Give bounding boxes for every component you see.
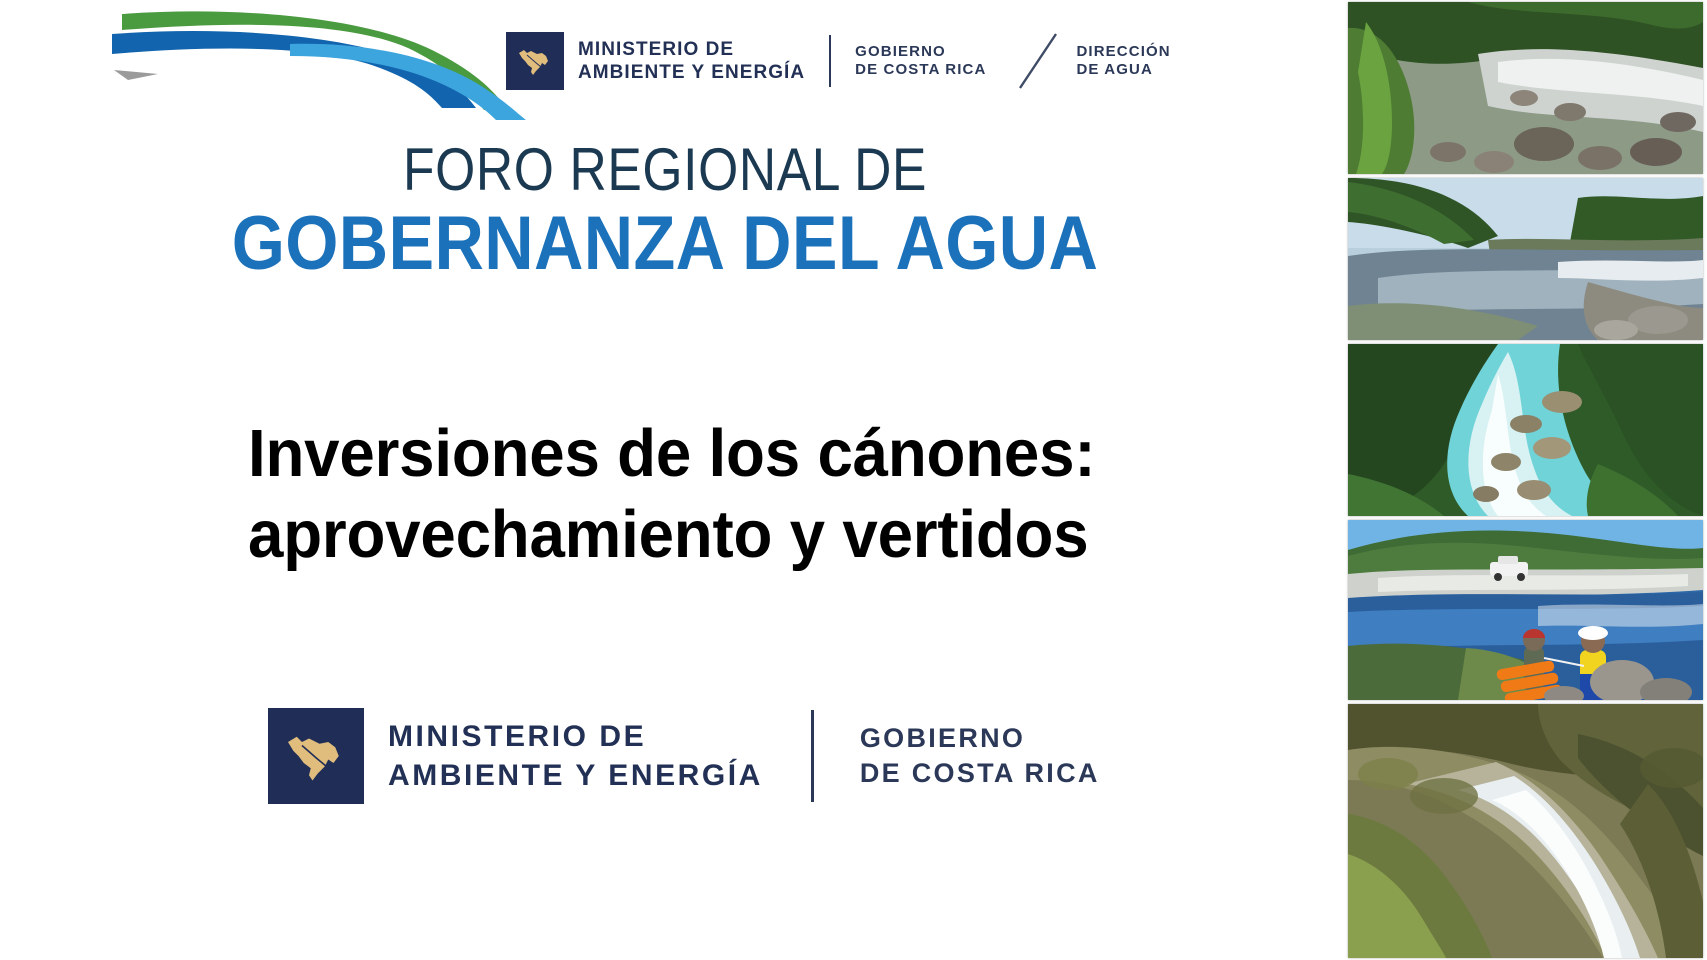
header-gobierno-line1: GOBIERNO: [855, 43, 986, 61]
header-slash-divider-icon: [1012, 30, 1064, 92]
header-logo-lockup: MINISTERIO DE AMBIENTE Y ENERGÍA GOBIERN…: [506, 28, 1171, 94]
footer-logo-lockup: MINISTERIO DE AMBIENTE Y ENERGÍA GOBIERN…: [268, 706, 1100, 806]
footer-gobierno-line1: GOBIERNO: [860, 721, 1100, 756]
page-title-line1: Inversiones de los cánones:: [248, 413, 1160, 494]
footer-gobierno-text: GOBIERNO DE COSTA RICA: [860, 721, 1100, 791]
header-ministerio-line2: AMBIENTE Y ENERGÍA: [578, 61, 805, 84]
footer-gobierno-line2: DE COSTA RICA: [860, 756, 1100, 791]
photo-river-rapids-vegetation: [1348, 2, 1703, 174]
header-direccion-text: DIRECCIÓN DE AGUA: [1076, 43, 1170, 80]
header-divider-1: [829, 35, 831, 87]
costa-rica-crest-icon: [506, 32, 564, 90]
page-title-line2: aprovechamiento y vertidos: [248, 494, 1160, 575]
wave-ribbon-graphic: [112, 0, 532, 120]
slide-canvas: MINISTERIO DE AMBIENTE Y ENERGÍA GOBIERN…: [0, 0, 1707, 960]
photo-river-calm-sky: [1348, 178, 1703, 340]
header-ministerio-text: MINISTERIO DE AMBIENTE Y ENERGÍA: [578, 38, 805, 84]
costa-rica-crest-icon: [268, 708, 364, 804]
photo-river-turquoise-jungle: [1348, 344, 1703, 516]
footer-ministerio-line1: MINISTERIO DE: [388, 717, 763, 756]
footer-ministerio-text: MINISTERIO DE AMBIENTE Y ENERGÍA: [388, 717, 763, 795]
header-gobierno-text: GOBIERNO DE COSTA RICA: [855, 43, 986, 80]
event-title-line2: GOBERNANZA DEL AGUA: [67, 206, 1264, 282]
footer-ministerio-line2: AMBIENTE Y ENERGÍA: [388, 756, 763, 795]
header-direccion-line1: DIRECCIÓN: [1076, 43, 1170, 61]
header-gobierno-line2: DE COSTA RICA: [855, 61, 986, 79]
page-title: Inversiones de los cánones: aprovechamie…: [248, 413, 1208, 575]
footer-divider: [811, 710, 814, 802]
photo-strip: [1340, 0, 1707, 960]
photo-rocky-stream: [1348, 704, 1703, 958]
event-title-line1: FORO REGIONAL DE: [93, 140, 1237, 200]
header-direccion-line2: DE AGUA: [1076, 61, 1170, 79]
header-ministerio-line1: MINISTERIO DE: [578, 38, 805, 61]
photo-field-measurement-team: [1348, 520, 1703, 700]
event-wordmark: FORO REGIONAL DE GOBERNANZA DEL AGUA: [0, 140, 1330, 282]
